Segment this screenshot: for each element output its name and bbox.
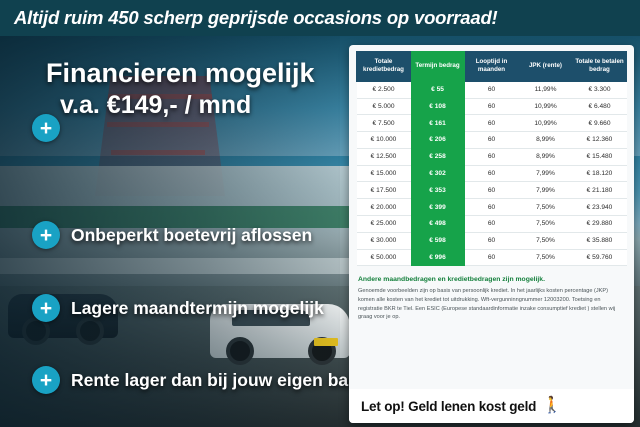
banner-text: Altijd ruim 450 scherp geprijsde occasio… bbox=[0, 7, 498, 29]
table-cell: 60 bbox=[465, 81, 519, 98]
bullet-item-1: + Lagere maandtermijn mogelijk bbox=[32, 294, 324, 322]
table-cell: 60 bbox=[465, 98, 519, 115]
table-cell: 7,50% bbox=[519, 215, 573, 232]
column-header-duration: Looptijd in maanden bbox=[465, 52, 519, 82]
table-cell: € 15.000 bbox=[357, 165, 411, 182]
table-cell: 60 bbox=[465, 232, 519, 249]
bullet-label: Lagere maandtermijn mogelijk bbox=[71, 298, 324, 319]
table-cell: € 302 bbox=[411, 165, 465, 182]
table-row: € 5.000€ 1086010,99%€ 6.480 bbox=[357, 98, 627, 115]
card-note-title: Andere maandbedragen en kredietbedragen … bbox=[358, 276, 625, 283]
plus-icon: + bbox=[32, 114, 60, 142]
card-footer: Let op! Geld lenen kost geld 🚶 bbox=[349, 389, 634, 423]
column-header-apr: JPK (rente) bbox=[519, 52, 573, 82]
table-cell: € 206 bbox=[411, 132, 465, 149]
table-cell: € 35.880 bbox=[573, 232, 627, 249]
table-cell: € 20.000 bbox=[357, 199, 411, 216]
table-cell: 60 bbox=[465, 182, 519, 199]
column-header-total-credit: Totale kredietbedrag bbox=[357, 52, 411, 82]
rates-table: Totale kredietbedrag Termijn bedrag Loop… bbox=[356, 51, 627, 266]
table-cell: € 12.500 bbox=[357, 148, 411, 165]
table-cell: € 6.480 bbox=[573, 98, 627, 115]
column-header-monthly-amount: Termijn bedrag bbox=[411, 52, 465, 82]
table-cell: 8,99% bbox=[519, 148, 573, 165]
table-cell: € 7.500 bbox=[357, 115, 411, 132]
bullet-item-financing: + bbox=[32, 114, 60, 142]
table-cell: € 353 bbox=[411, 182, 465, 199]
table-cell: € 18.120 bbox=[573, 165, 627, 182]
headline-secondary: v.a. €149,- / mnd bbox=[60, 91, 251, 120]
table-cell: € 498 bbox=[411, 215, 465, 232]
table-row: € 20.000€ 399607,50%€ 23.940 bbox=[357, 199, 627, 216]
bullet-label: Onbeperkt boetevrij aflossen bbox=[71, 225, 312, 246]
table-cell: € 10.000 bbox=[357, 132, 411, 149]
table-cell: 60 bbox=[465, 215, 519, 232]
bullet-item-0: + Onbeperkt boetevrij aflossen bbox=[32, 221, 312, 249]
table-cell: € 12.360 bbox=[573, 132, 627, 149]
plus-icon: + bbox=[32, 294, 60, 322]
walking-person-icon: 🚶 bbox=[542, 398, 562, 414]
table-row: € 50.000€ 996607,50%€ 59.760 bbox=[357, 249, 627, 266]
table-cell: 10,99% bbox=[519, 115, 573, 132]
table-cell: € 2.500 bbox=[357, 81, 411, 98]
table-cell: € 5.000 bbox=[357, 98, 411, 115]
table-row: € 30.000€ 598607,50%€ 35.880 bbox=[357, 232, 627, 249]
left-content-column: Financieren mogelijk v.a. €149,- / mnd +… bbox=[0, 36, 346, 427]
table-cell: € 50.000 bbox=[357, 249, 411, 266]
table-cell: € 17.500 bbox=[357, 182, 411, 199]
table-cell: 10,99% bbox=[519, 98, 573, 115]
table-cell: 7,99% bbox=[519, 182, 573, 199]
plus-icon: + bbox=[32, 366, 60, 394]
table-cell: 7,50% bbox=[519, 232, 573, 249]
table-cell: € 996 bbox=[411, 249, 465, 266]
table-cell: 7,99% bbox=[519, 165, 573, 182]
table-row: € 12.500€ 258608,99%€ 15.480 bbox=[357, 148, 627, 165]
table-cell: 60 bbox=[465, 148, 519, 165]
table-cell: 60 bbox=[465, 249, 519, 266]
table-row: € 10.000€ 206608,99%€ 12.360 bbox=[357, 132, 627, 149]
table-cell: € 108 bbox=[411, 98, 465, 115]
table-cell: 60 bbox=[465, 132, 519, 149]
table-cell: 60 bbox=[465, 165, 519, 182]
table-cell: € 15.480 bbox=[573, 148, 627, 165]
column-header-total-payable: Totale te betalen bedrag bbox=[573, 52, 627, 82]
table-cell: € 30.000 bbox=[357, 232, 411, 249]
table-row: € 25.000€ 498607,50%€ 29.880 bbox=[357, 215, 627, 232]
headline-primary: Financieren mogelijk bbox=[46, 58, 315, 89]
table-cell: € 21.180 bbox=[573, 182, 627, 199]
table-row: € 7.500€ 1616010,99%€ 9.660 bbox=[357, 115, 627, 132]
table-cell: € 598 bbox=[411, 232, 465, 249]
table-cell: € 161 bbox=[411, 115, 465, 132]
bullet-label: Rente lager dan bij jouw eigen bank bbox=[71, 370, 369, 391]
rates-card: Totale kredietbedrag Termijn bedrag Loop… bbox=[349, 45, 634, 423]
top-banner: Altijd ruim 450 scherp geprijsde occasio… bbox=[0, 0, 640, 36]
table-cell: € 3.300 bbox=[573, 81, 627, 98]
table-cell: € 25.000 bbox=[357, 215, 411, 232]
table-cell: 7,50% bbox=[519, 249, 573, 266]
table-cell: 8,99% bbox=[519, 132, 573, 149]
table-cell: € 23.940 bbox=[573, 199, 627, 216]
table-cell: € 55 bbox=[411, 81, 465, 98]
warning-text: Let op! Geld lenen kost geld bbox=[349, 399, 536, 414]
card-note-body: Genoemde voorbeelden zijn op basis van p… bbox=[358, 287, 625, 322]
table-body: € 2.500€ 556011,99%€ 3.300€ 5.000€ 10860… bbox=[357, 81, 627, 266]
table-cell: 11,99% bbox=[519, 81, 573, 98]
table-row: € 2.500€ 556011,99%€ 3.300 bbox=[357, 81, 627, 98]
plus-icon: + bbox=[32, 221, 60, 249]
bullet-item-2: + Rente lager dan bij jouw eigen bank bbox=[32, 366, 369, 394]
table-cell: 7,50% bbox=[519, 199, 573, 216]
table-cell: € 29.880 bbox=[573, 215, 627, 232]
table-cell: 60 bbox=[465, 199, 519, 216]
table-cell: € 59.760 bbox=[573, 249, 627, 266]
table-cell: 60 bbox=[465, 115, 519, 132]
table-cell: € 258 bbox=[411, 148, 465, 165]
table-cell: € 399 bbox=[411, 199, 465, 216]
table-row: € 15.000€ 302607,99%€ 18.120 bbox=[357, 165, 627, 182]
table-header-row: Totale kredietbedrag Termijn bedrag Loop… bbox=[357, 52, 627, 82]
table-cell: € 9.660 bbox=[573, 115, 627, 132]
table-row: € 17.500€ 353607,99%€ 21.180 bbox=[357, 182, 627, 199]
